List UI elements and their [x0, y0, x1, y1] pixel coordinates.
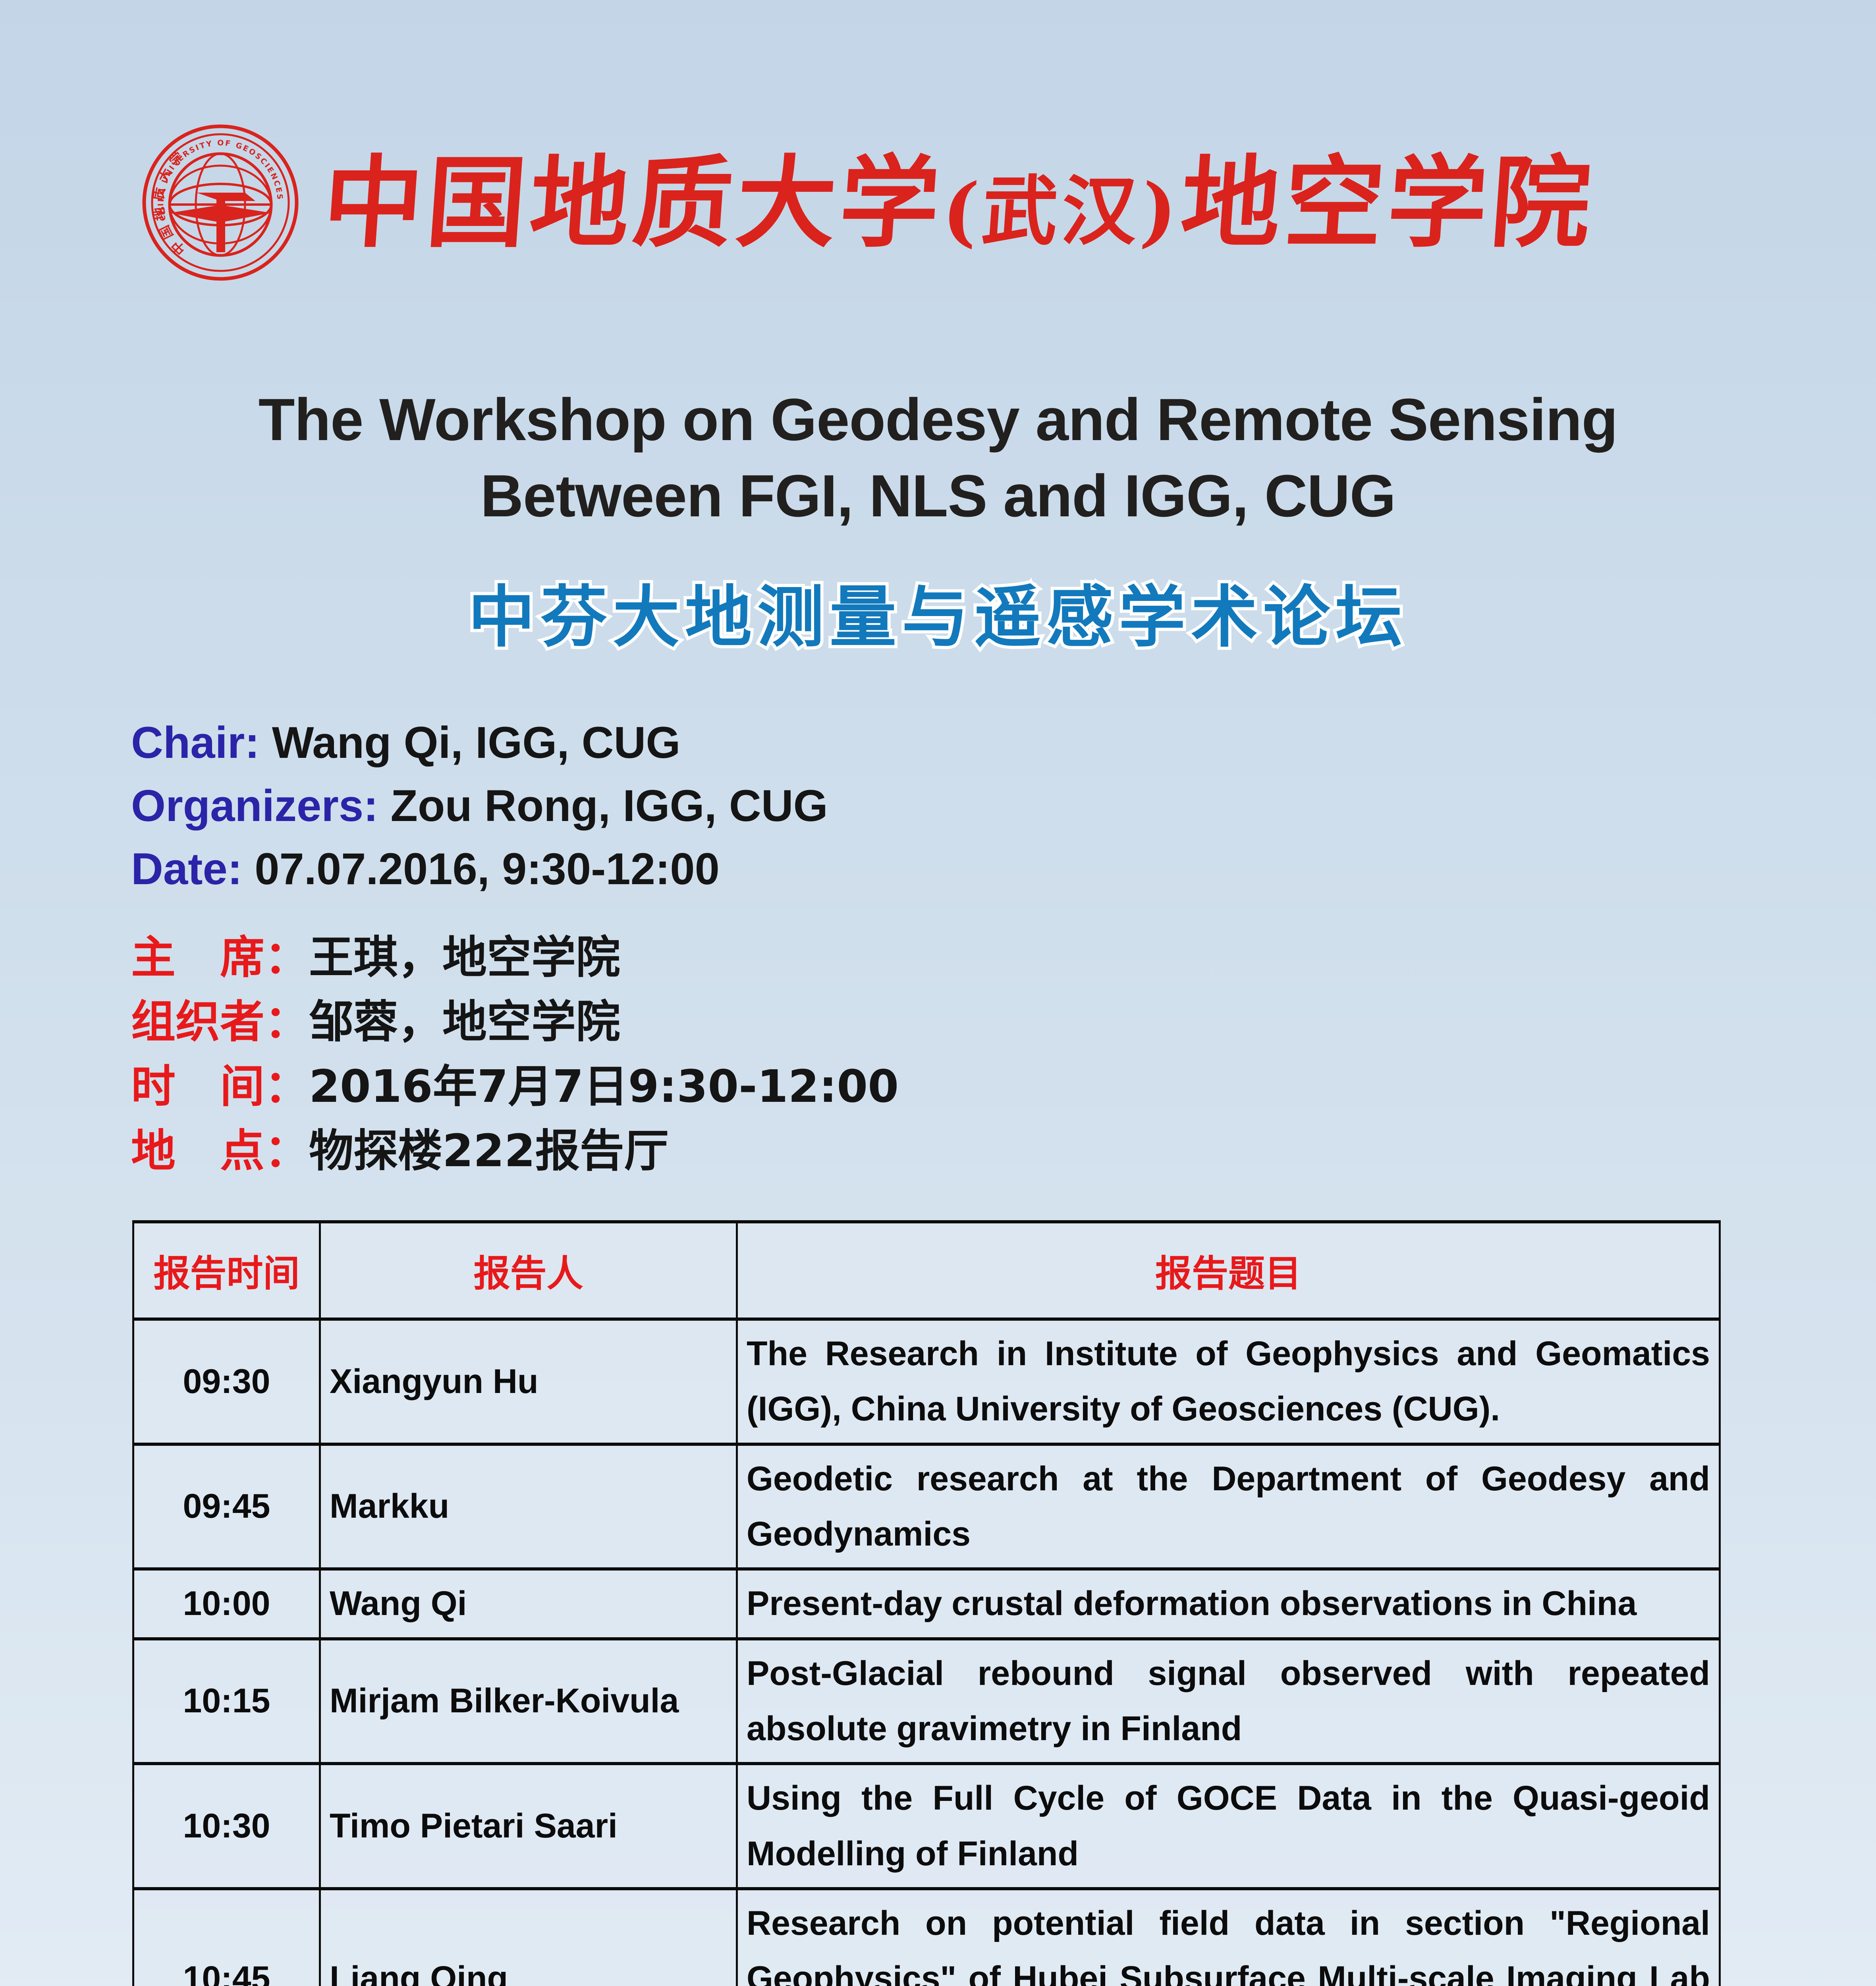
column-header-title: 报告题目: [737, 1222, 1720, 1319]
column-header-time: 报告时间: [133, 1222, 320, 1319]
university-banner: 中国地质大学(武汉)地空学院: [320, 153, 1598, 252]
poster-root: 中国地质大学 CHINA UNIVERSITY OF GEOSCIENCES 中…: [0, 0, 1876, 1986]
table-row: 09:30 Xiangyun Hu The Research in Instit…: [133, 1319, 1720, 1444]
table-row: 10:45 Liang Qing Research on potential f…: [133, 1889, 1720, 1986]
cell-title: Research on potential field data in sect…: [737, 1889, 1720, 1986]
info-cn-row-time: 时 间：2016年7月7日9:30-12:00: [131, 1055, 899, 1119]
info-row-chair: Chair: Wang Qi, IGG, CUG: [131, 711, 828, 774]
title-line-1: The Workshop on Geodesy and Remote Sensi…: [0, 381, 1876, 458]
info-block-english: Chair: Wang Qi, IGG, CUG Organizers: Zou…: [131, 711, 828, 900]
chair-value-cn: 王琪，地空学院: [309, 932, 620, 983]
cell-speaker: Liang Qing: [320, 1889, 737, 1986]
cell-title: Using the Full Cycle of GOCE Data in the…: [737, 1764, 1720, 1889]
schedule-table-container: 报告时间 报告人 报告题目 09:30 Xiangyun Hu The Rese…: [132, 1220, 1721, 1986]
cell-time: 10:15: [133, 1639, 320, 1764]
table-row: 10:30 Timo Pietari Saari Using the Full …: [133, 1764, 1720, 1889]
cell-time: 10:45: [133, 1889, 320, 1986]
info-cn-row-venue: 地 点：物探楼222报告厅: [131, 1119, 899, 1183]
cell-speaker: Markku: [320, 1444, 737, 1569]
organizers-label: Organizers:: [131, 781, 378, 831]
poster-header: 中国地质大学 CHINA UNIVERSITY OF GEOSCIENCES 中…: [141, 119, 1828, 286]
date-value: 07.07.2016, 9:30-12:00: [255, 844, 720, 894]
cell-title: The Research in Institute of Geophysics …: [737, 1319, 1720, 1444]
cell-time: 09:30: [133, 1319, 320, 1444]
cell-time: 10:30: [133, 1764, 320, 1889]
subtitle-chinese: 中芬大地测量与遥感学术论坛: [0, 563, 1876, 660]
table-row: 10:15 Mirjam Bilker-Koivula Post-Glacial…: [133, 1639, 1720, 1764]
organizer-value-cn: 邹蓉，地空学院: [309, 996, 620, 1048]
cell-title: Post-Glacial rebound signal observed wit…: [737, 1639, 1720, 1764]
cell-speaker: Xiangyun Hu: [320, 1319, 737, 1444]
time-value-cn: 2016年7月7日9:30-12:00: [309, 1061, 899, 1113]
date-label: Date:: [131, 844, 242, 894]
table-row: 10:00 Wang Qi Present-day crustal deform…: [133, 1569, 1720, 1638]
cell-time: 09:45: [133, 1444, 320, 1569]
banner-paren: (武汉): [940, 167, 1184, 255]
schedule-table-body: 09:30 Xiangyun Hu The Research in Instit…: [133, 1319, 1720, 1986]
info-row-organizers: Organizers: Zou Rong, IGG, CUG: [131, 774, 828, 837]
table-header-row: 报告时间 报告人 报告题目: [133, 1222, 1720, 1319]
cell-time: 10:00: [133, 1569, 320, 1638]
column-header-speaker: 报告人: [320, 1222, 737, 1319]
table-row: 09:45 Markku Geodetic research at the De…: [133, 1444, 1720, 1569]
banner-part2: 地空学院: [1177, 144, 1599, 261]
cell-speaker: Mirjam Bilker-Koivula: [320, 1639, 737, 1764]
time-label-cn: 时 间：: [131, 1055, 309, 1119]
cell-speaker: Wang Qi: [320, 1569, 737, 1638]
info-row-date: Date: 07.07.2016, 9:30-12:00: [131, 837, 828, 900]
chair-label: Chair:: [131, 718, 260, 767]
venue-value-cn: 物探楼222报告厅: [309, 1125, 669, 1177]
info-cn-row-organizer: 组织者：邹蓉，地空学院: [131, 990, 899, 1054]
page-title: The Workshop on Geodesy and Remote Sensi…: [0, 381, 1876, 534]
cug-seal-icon: 中国地质大学 CHINA UNIVERSITY OF GEOSCIENCES: [141, 123, 300, 282]
chair-label-cn: 主 席：: [131, 925, 309, 990]
cell-speaker: Timo Pietari Saari: [320, 1764, 737, 1889]
organizer-label-cn: 组织者：: [131, 990, 309, 1054]
title-line-2: Between FGI, NLS and IGG, CUG: [0, 458, 1876, 534]
info-cn-row-chair: 主 席：王琪，地空学院: [131, 925, 899, 990]
organizers-value: Zou Rong, IGG, CUG: [391, 781, 828, 831]
info-block-chinese: 主 席：王琪，地空学院 组织者：邹蓉，地空学院 时 间：2016年7月7日9:3…: [131, 925, 899, 1184]
cell-title: Present-day crustal deformation observat…: [737, 1569, 1720, 1638]
banner-part1: 中国地质大学: [320, 144, 948, 261]
cell-title: Geodetic research at the Department of G…: [737, 1444, 1720, 1569]
venue-label-cn: 地 点：: [131, 1119, 309, 1183]
chair-value: Wang Qi, IGG, CUG: [272, 718, 681, 767]
schedule-table: 报告时间 报告人 报告题目 09:30 Xiangyun Hu The Rese…: [132, 1220, 1721, 1986]
